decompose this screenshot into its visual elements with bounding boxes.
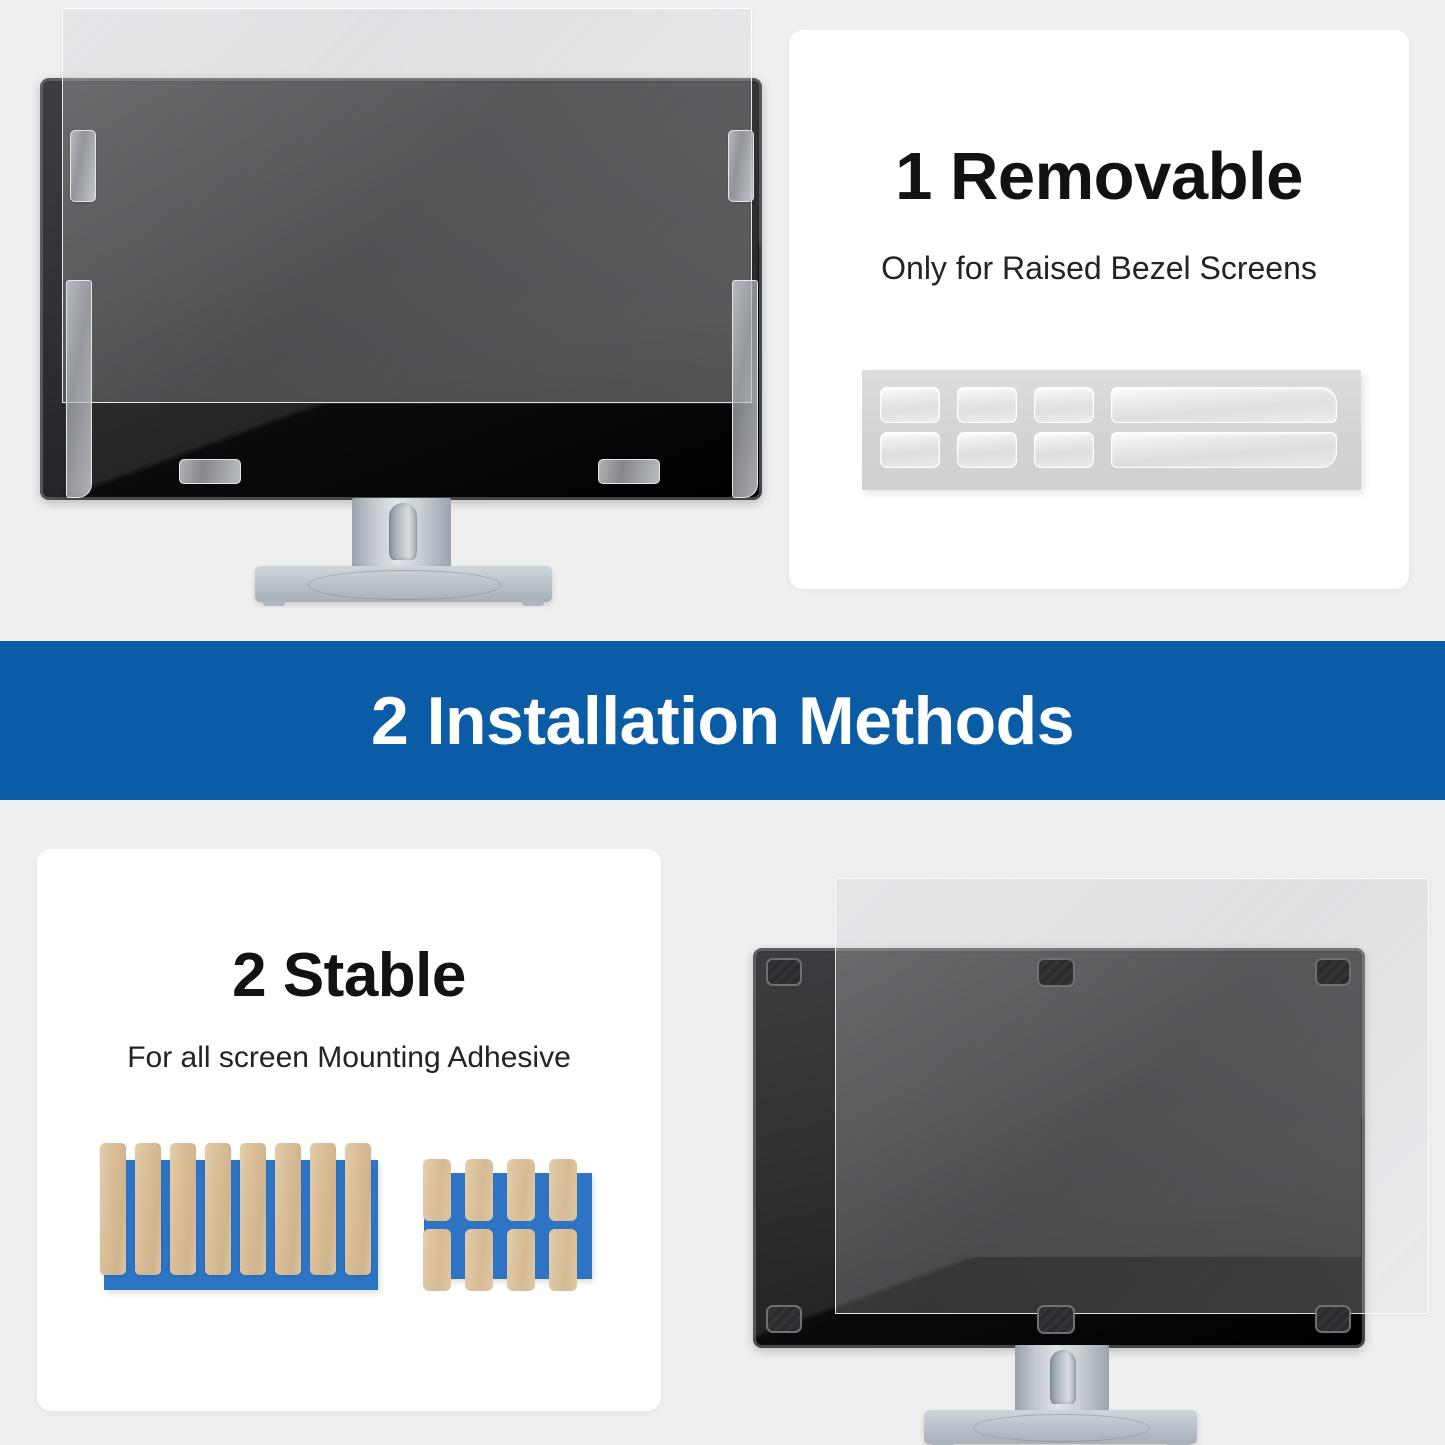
adhesive-strip-2 — [135, 1143, 161, 1275]
adhesive-pad-bottom-left — [766, 1305, 802, 1333]
privacy-filter-overlay — [62, 8, 752, 403]
banner-title: 2 Installation Methods — [371, 682, 1074, 760]
infographic-canvas: 1 Removable Only for Raised Bezel Screen… — [0, 0, 1445, 1445]
clip-tab-upper-right — [728, 130, 754, 202]
adhesive-strip-5 — [240, 1143, 266, 1275]
clip-tab-bottom-left — [179, 459, 241, 484]
clip-piece-r2c1 — [880, 432, 940, 468]
adhesive-strip-1 — [100, 1143, 126, 1275]
monitor-stand-base — [924, 1410, 1197, 1444]
clip-piece-r2-long — [1111, 432, 1337, 468]
stable-heading: 2 Stable — [37, 945, 661, 1007]
clip-tab-upper-left — [70, 130, 96, 202]
stand-cable-slot — [389, 503, 417, 560]
base-foot-left — [263, 600, 285, 606]
adhesive-tab-r1c3 — [507, 1159, 535, 1221]
adhesive-strip-8 — [345, 1143, 371, 1275]
adhesive-tab-r2c4 — [549, 1229, 577, 1291]
adhesive-pad-top-left — [766, 958, 802, 986]
adhesive-pad-top-right — [1315, 958, 1351, 986]
clip-tab-lower-right — [732, 280, 758, 498]
stable-subheading: For all screen Mounting Adhesive — [37, 1043, 661, 1073]
removable-heading: 1 Removable — [789, 143, 1409, 210]
adhesive-tab-r1c2 — [465, 1159, 493, 1221]
monitor-with-adhesive-filter — [735, 862, 1435, 1445]
clip-piece-r1-long — [1111, 387, 1337, 423]
clip-tab-bottom-right — [598, 459, 660, 484]
long-adhesive-strip-sheet — [104, 1160, 378, 1290]
installation-methods-banner: 2 Installation Methods — [0, 641, 1445, 800]
monitor-with-sliding-filter — [22, 0, 762, 620]
removable-subheading: Only for Raised Bezel Screens — [789, 252, 1409, 284]
clip-piece-r2c3 — [1034, 432, 1094, 468]
adhesive-tab-r2c3 — [507, 1229, 535, 1291]
adhesive-tab-r1c1 — [423, 1159, 451, 1221]
removable-method-card — [789, 30, 1409, 589]
clip-piece-r1c3 — [1034, 387, 1094, 423]
clip-tab-lower-left — [66, 280, 92, 498]
adhesive-tab-r2c2 — [465, 1229, 493, 1291]
base-foot-right — [522, 600, 544, 606]
monitor-stand-base — [255, 566, 552, 602]
adhesive-pad-bottom-right — [1315, 1305, 1351, 1333]
adhesive-tab-r1c4 — [549, 1159, 577, 1221]
bezel-clip-sheet — [862, 370, 1361, 490]
short-adhesive-tab-sheet — [424, 1173, 592, 1279]
adhesive-strip-7 — [310, 1143, 336, 1275]
stable-method-card — [37, 849, 661, 1411]
adhesive-pad-bottom-center — [1037, 1305, 1075, 1334]
adhesive-strip-3 — [170, 1143, 196, 1275]
adhesive-pad-top-center — [1037, 958, 1075, 987]
adhesive-strip-4 — [205, 1143, 231, 1275]
privacy-filter-overlay — [835, 878, 1429, 1314]
clip-piece-r2c2 — [957, 432, 1017, 468]
clip-piece-r1c1 — [880, 387, 940, 423]
adhesive-tab-r2c1 — [423, 1229, 451, 1291]
stand-cable-slot — [1050, 1350, 1076, 1404]
adhesive-strip-6 — [275, 1143, 301, 1275]
clip-piece-r1c2 — [957, 387, 1017, 423]
